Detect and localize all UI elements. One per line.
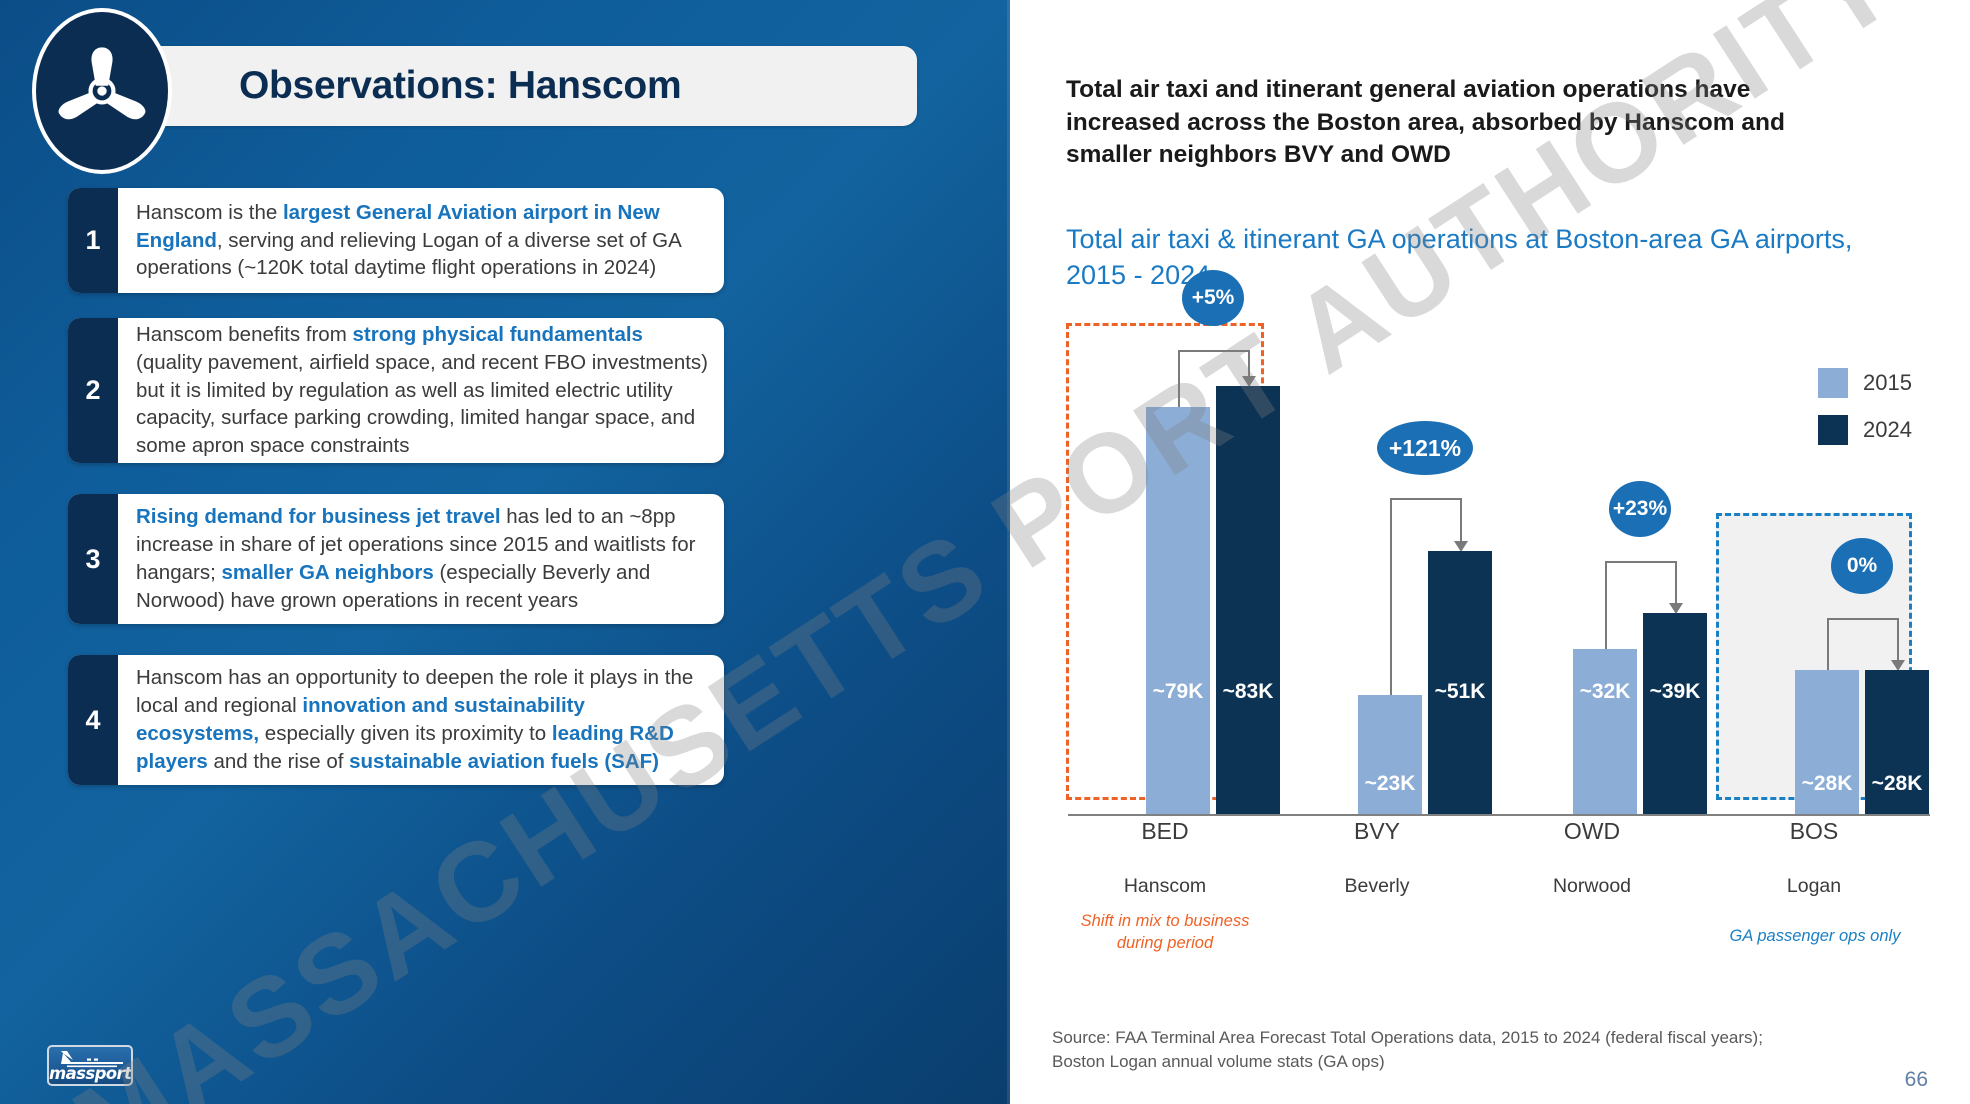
x-code-bos: BOS	[1716, 818, 1912, 845]
bar-bvy-2015: ~23K	[1358, 695, 1422, 814]
x-code-bvy: BVY	[1278, 818, 1476, 845]
card-text: Hanscom is the largest General Aviation …	[118, 188, 724, 293]
bar-value-label: ~83K	[1216, 680, 1280, 704]
bar-owd-2015: ~32K	[1573, 649, 1637, 814]
bar-owd-2024: ~39K	[1643, 613, 1707, 814]
page-title: Observations: Hanscom	[239, 64, 681, 108]
bar-bed-2015: ~79K	[1146, 407, 1210, 814]
growth-callout-bed: +5%	[1182, 270, 1244, 326]
x-label-bvy: BVY Beverly	[1278, 818, 1476, 898]
x-label-owd: OWD Norwood	[1493, 818, 1691, 898]
card-number: 4	[68, 655, 118, 785]
x-name-logan: Logan	[1716, 875, 1912, 898]
propeller-icon	[32, 8, 172, 174]
growth-callout-bvy: +121%	[1377, 421, 1473, 475]
callout-connector-right	[1248, 350, 1250, 376]
massport-logo: massport	[47, 1045, 133, 1086]
observation-card-4: 4 Hanscom has an opportunity to deepen t…	[68, 655, 724, 785]
bar-bos-2015: ~28K	[1795, 670, 1859, 814]
bed-annotation: Shift in mix to business during period	[1066, 910, 1264, 955]
slide-title-pill: Observations: Hanscom	[107, 46, 917, 126]
observation-card-3: 3 Rising demand for business jet travel …	[68, 494, 724, 624]
callout-connector-right	[1460, 498, 1462, 541]
bar-value-label: ~32K	[1573, 680, 1637, 704]
x-label-bed: BED Hanscom	[1066, 818, 1264, 898]
chart-panel: Total air taxi and itinerant general avi…	[1010, 0, 1970, 1104]
callout-connector-top	[1178, 350, 1248, 352]
card-number: 1	[68, 188, 118, 293]
x-name-norwood: Norwood	[1493, 875, 1691, 898]
bar-value-label: ~51K	[1428, 680, 1492, 704]
observation-card-1: 1 Hanscom is the largest General Aviatio…	[68, 188, 724, 293]
bar-bed-2024: ~83K	[1216, 386, 1280, 814]
callout-connector-top	[1390, 498, 1460, 500]
callout-connector-left	[1178, 350, 1180, 411]
card-text: Hanscom has an opportunity to deepen the…	[118, 655, 724, 785]
growth-callout-owd: +23%	[1609, 481, 1671, 537]
x-code-owd: OWD	[1493, 818, 1691, 845]
bar-value-label: ~39K	[1643, 680, 1707, 704]
card-text: Rising demand for business jet travel ha…	[118, 494, 724, 624]
card-number: 2	[68, 318, 118, 463]
x-label-bos: BOS Logan	[1716, 818, 1912, 898]
callout-connector-left	[1605, 561, 1607, 653]
callout-connector-top	[1605, 561, 1675, 563]
chart-headline: Total air taxi and itinerant general avi…	[1066, 74, 1856, 172]
growth-callout-bos: 0%	[1831, 538, 1893, 594]
card-number: 3	[68, 494, 118, 624]
bar-bvy-2024: ~51K	[1428, 551, 1492, 814]
x-name-beverly: Beverly	[1278, 875, 1476, 898]
page-number: 66	[1905, 1068, 1928, 1092]
card-text: Hanscom benefits from strong physical fu…	[118, 318, 724, 463]
massport-wordmark: massport	[49, 1066, 131, 1083]
bar-bos-2024: ~28K	[1865, 670, 1929, 814]
callout-connector-right	[1897, 618, 1899, 660]
bar-value-label: ~23K	[1358, 772, 1422, 796]
callout-connector-left	[1390, 498, 1392, 699]
bar-value-label: ~28K	[1795, 772, 1859, 796]
bar-value-label: ~28K	[1865, 772, 1929, 796]
source-note: Source: FAA Terminal Area Forecast Total…	[1052, 1026, 1792, 1074]
callout-connector-top	[1827, 618, 1897, 620]
x-name-hanscom: Hanscom	[1066, 875, 1264, 898]
bos-annotation: GA passenger ops only	[1726, 925, 1904, 947]
callout-connector-right	[1675, 561, 1677, 603]
left-content-panel: Observations: Hanscom 1 Hanscom is the l…	[0, 0, 1010, 1104]
observation-card-2: 2 Hanscom benefits from strong physical …	[68, 318, 724, 463]
callout-connector-left	[1827, 618, 1829, 674]
x-axis-line	[1068, 814, 1930, 816]
bar-value-label: ~79K	[1146, 680, 1210, 704]
x-code-bed: BED	[1066, 818, 1264, 845]
